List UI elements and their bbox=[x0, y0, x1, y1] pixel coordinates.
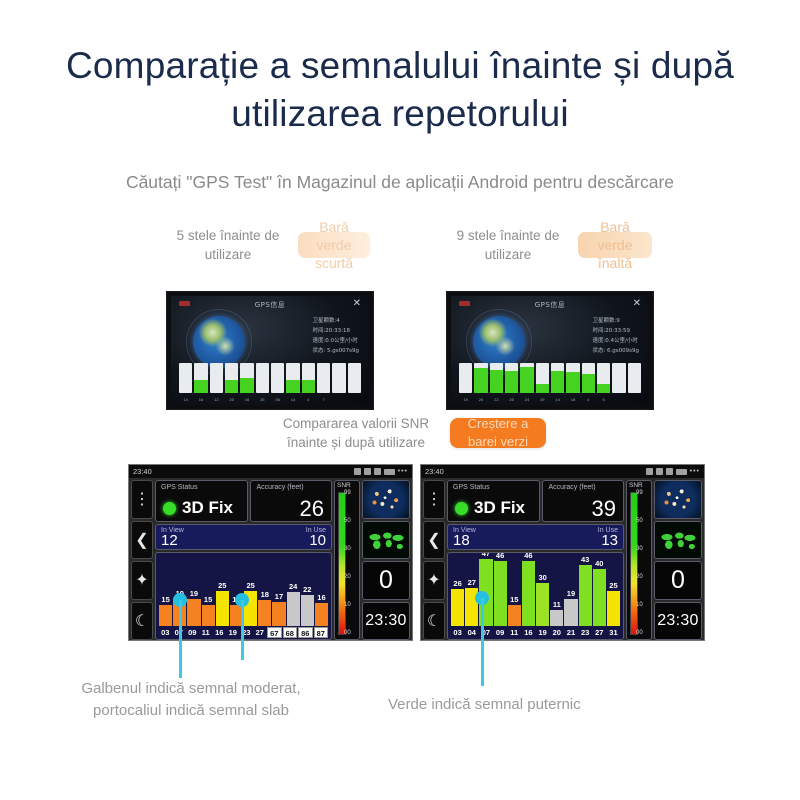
head-unit-bar bbox=[317, 363, 330, 393]
badge-right-text: Bară verde înaltă bbox=[597, 218, 632, 272]
head-unit-bar bbox=[332, 363, 345, 393]
head-unit-bar bbox=[348, 363, 361, 393]
top-tiles-left: GPS Status 3D Fix Accuracy (feet) 26 bbox=[155, 480, 332, 522]
snr-bar-value: 18 bbox=[258, 591, 271, 599]
caption-left-text: 5 stele înainte de utilizare bbox=[168, 226, 288, 264]
overflow-dots-icon: ••• bbox=[690, 468, 700, 475]
main-column-right: GPS Status 3D Fix Accuracy (feet) 39 In … bbox=[447, 480, 624, 640]
snr-bar-fill bbox=[315, 603, 328, 626]
night-mode-icon[interactable]: ☾ bbox=[131, 602, 153, 641]
satellite-id: 09 bbox=[494, 627, 507, 638]
snr-bar-fill bbox=[550, 610, 563, 626]
alarm-icon bbox=[374, 468, 381, 475]
sky-view-tile[interactable] bbox=[362, 480, 410, 519]
status-bar-time: 23:40 bbox=[133, 467, 152, 476]
satellite-id: 31 bbox=[607, 627, 620, 638]
snr-bar-value: 19 bbox=[564, 590, 577, 598]
accuracy-value: 26 bbox=[300, 497, 324, 521]
head-unit-bar bbox=[179, 363, 192, 393]
snr-bar-fill bbox=[202, 605, 215, 626]
status-indicator-dot bbox=[455, 502, 468, 515]
satellite-id: 20 bbox=[550, 627, 563, 638]
info-line: 时间:20:33:59 bbox=[592, 326, 639, 336]
share-icon[interactable]: ❮ bbox=[131, 521, 153, 560]
satellite-id: 27 bbox=[593, 627, 606, 638]
head-unit-bar-id: 14 bbox=[551, 397, 564, 402]
snr-bar-fill bbox=[272, 602, 285, 626]
head-unit-bar bbox=[520, 363, 533, 393]
head-unit-bar-id bbox=[348, 397, 361, 402]
snr-bar: 19 bbox=[564, 555, 577, 626]
head-unit-bar bbox=[240, 363, 253, 393]
snr-tick: 00 bbox=[636, 630, 650, 636]
battery-icon bbox=[676, 469, 687, 475]
right-tiles-left: 0 23:30 bbox=[362, 480, 410, 640]
head-unit-bar bbox=[582, 363, 595, 393]
head-unit-bar-id bbox=[612, 397, 625, 402]
snr-bar-fill bbox=[301, 595, 314, 626]
head-unit-screen-left: GPS信息 ✕ 卫星颗数:4 时间:20:33:18 速度:0.0公里/小时 状… bbox=[171, 296, 369, 405]
satellite-id: 23 bbox=[579, 627, 592, 638]
head-unit-photo-right: GPS信息 ✕ 卫星颗数:9 时间:20:33:59 速度:0.4公里/小时 状… bbox=[446, 291, 654, 410]
head-unit-bar bbox=[474, 363, 487, 393]
gps-status-tile[interactable]: GPS Status 3D Fix bbox=[155, 480, 248, 522]
satellite-id: 68 bbox=[283, 627, 298, 638]
head-unit-bar-id: 25 bbox=[256, 397, 269, 402]
snr-bar-value: 46 bbox=[494, 552, 507, 560]
badge-right: Bară verde înaltă bbox=[578, 232, 652, 258]
pointer-line bbox=[481, 598, 484, 686]
snr-bar: 25 bbox=[216, 555, 229, 626]
snr-tick: 50 bbox=[344, 518, 358, 524]
gps-status-tile[interactable]: GPS Status 3D Fix bbox=[447, 480, 540, 522]
accuracy-tile[interactable]: Accuracy (feet) 26 bbox=[250, 480, 332, 522]
speed-tile[interactable]: 0 bbox=[654, 561, 702, 600]
middle-caption: Compararea valorii SNR înainte și după u… bbox=[272, 414, 572, 452]
head-unit-bar bbox=[271, 363, 284, 393]
accuracy-value: 39 bbox=[592, 497, 616, 521]
head-unit-bar-fill bbox=[505, 371, 518, 393]
status-indicator-dot bbox=[163, 502, 176, 515]
in-view-value: 12 bbox=[161, 533, 178, 549]
badge-left: Bară verde scurtă bbox=[298, 232, 370, 258]
snr-tick: 30 bbox=[344, 546, 358, 552]
satellite-id: 04 bbox=[465, 627, 478, 638]
snr-tick: 50 bbox=[636, 518, 650, 524]
overflow-dots-icon: ••• bbox=[398, 468, 408, 475]
snr-bar: 15 bbox=[159, 555, 172, 626]
snr-bar-value: 22 bbox=[301, 586, 314, 594]
badge-middle-text: Creștere a barei verzi bbox=[468, 415, 529, 451]
head-unit-photo-left: GPS信息 ✕ 卫星颗数:4 时间:20:33:18 速度:0.0公里/小时 状… bbox=[166, 291, 374, 410]
head-unit-bar-id: 16 bbox=[240, 397, 253, 402]
menu-dots-icon[interactable]: ⋮ bbox=[131, 480, 153, 519]
satellite-id: 87 bbox=[314, 627, 329, 638]
head-unit-bar-fill bbox=[302, 380, 315, 394]
screen-title-right: GPS信息 bbox=[451, 300, 649, 310]
snr-bar: 11 bbox=[550, 555, 563, 626]
close-icon[interactable]: ✕ bbox=[353, 299, 361, 309]
snr-bar: 24 bbox=[287, 555, 300, 626]
snr-bar-value: 40 bbox=[593, 560, 606, 568]
head-unit-bar bbox=[210, 363, 223, 393]
snr-bar-fill bbox=[564, 599, 577, 626]
head-unit-bar-fill bbox=[582, 374, 595, 393]
note-right: Verde indică semnal puternic bbox=[388, 694, 688, 716]
accuracy-tile[interactable]: Accuracy (feet) 39 bbox=[542, 480, 624, 522]
head-unit-bar bbox=[256, 363, 269, 393]
head-unit-bar-id bbox=[332, 397, 345, 402]
status-bar-right: 23:40 ••• bbox=[421, 465, 704, 478]
gps-test-screenshot-right: 23:40 ••• ⋮ ❮ ✦ ☾ GPS Status bbox=[420, 464, 705, 641]
info-line: 速度:0.0公里/小时 bbox=[312, 336, 359, 346]
in-view-in-use-tile[interactable]: In View 12 In Use 10 bbox=[155, 524, 332, 550]
snr-bar: 46 bbox=[522, 555, 535, 626]
satellite-snr-chart-right: 262747461546301119434025 030407091116192… bbox=[447, 552, 624, 640]
speed-value: 0 bbox=[379, 566, 393, 595]
info-block-left: 卫星颗数:4 时间:20:33:18 速度:0.0公里/小时 状态: 5.gs0… bbox=[312, 316, 359, 356]
note-left: Galbenul indică semnal moderat, portocal… bbox=[36, 678, 346, 722]
head-unit-bar-id: 24 bbox=[520, 397, 533, 402]
speed-value: 0 bbox=[671, 566, 685, 595]
head-unit-bar-id: 16 bbox=[194, 397, 207, 402]
share-icon[interactable]: ❮ bbox=[423, 521, 445, 560]
satellite-id: 19 bbox=[227, 627, 240, 638]
clock-value: 23:30 bbox=[657, 612, 699, 630]
brightness-icon[interactable]: ✦ bbox=[423, 561, 445, 600]
snr-bar-value: 25 bbox=[216, 582, 229, 590]
snr-tick-labels-left: 995030201000 bbox=[344, 490, 358, 636]
snr-bars-right: 262747461546301119434025 bbox=[451, 555, 620, 626]
snr-bar: 25 bbox=[244, 555, 257, 626]
photo-bars-right bbox=[459, 363, 641, 393]
head-unit-bar-id: 14 bbox=[179, 397, 192, 402]
snr-bar-value: 15 bbox=[508, 596, 521, 604]
photo-bars-left bbox=[179, 363, 361, 393]
head-unit-bar-id: 19 bbox=[459, 397, 472, 402]
badge-middle: Creștere a barei verzi bbox=[450, 418, 546, 448]
photo-axis-left: 141612251625061447 bbox=[179, 397, 361, 402]
snr-tick: 99 bbox=[636, 490, 650, 496]
snr-bar: 15 bbox=[202, 555, 215, 626]
gps-status-label: GPS Status bbox=[453, 484, 490, 491]
snr-bar: 25 bbox=[607, 555, 620, 626]
snr-bar-value: 25 bbox=[607, 582, 620, 590]
gps-status-value-row: 3D Fix bbox=[455, 498, 525, 518]
snr-bar: 27 bbox=[465, 555, 478, 626]
battery-icon bbox=[384, 469, 395, 475]
snr-ids-right: 030407091116192021232731 bbox=[451, 627, 620, 638]
location-icon bbox=[364, 468, 371, 475]
snr-tick-labels-right: 995030201000 bbox=[636, 490, 650, 636]
snr-bar-value: 43 bbox=[579, 556, 592, 564]
night-mode-icon[interactable]: ☾ bbox=[423, 602, 445, 641]
clock-tile[interactable]: 23:30 bbox=[362, 602, 410, 641]
snr-bar: 17 bbox=[272, 555, 285, 626]
snr-bar-value: 30 bbox=[536, 574, 549, 582]
infographic-page: Comparație a semnalului înainte și după … bbox=[0, 0, 800, 800]
head-unit-bar-id bbox=[628, 397, 641, 402]
info-block-right: 卫星颗数:9 时间:20:33:59 速度:0.4公里/小时 状态: 6.gs0… bbox=[592, 316, 639, 356]
world-map-tile[interactable] bbox=[362, 521, 410, 560]
snr-tick: 20 bbox=[344, 574, 358, 580]
badge-left-text: Bară verde scurtă bbox=[315, 218, 353, 272]
head-unit-bar bbox=[194, 363, 207, 393]
info-line: 卫星颗数:9 bbox=[592, 316, 639, 326]
snr-bar-fill bbox=[187, 599, 200, 626]
snr-bar-value: 46 bbox=[522, 552, 535, 560]
snr-bar: 30 bbox=[536, 555, 549, 626]
snr-gauge-right: SNR 995030201000 bbox=[626, 480, 652, 640]
head-unit-bar-fill bbox=[566, 372, 579, 393]
app-body-right: ⋮ ❮ ✦ ☾ GPS Status 3D Fix Accuracy (feet… bbox=[421, 478, 704, 641]
head-unit-bar-id: 18 bbox=[566, 397, 579, 402]
head-unit-bar-id: 14 bbox=[286, 397, 299, 402]
satellite-id: 11 bbox=[200, 627, 213, 638]
world-map-icon bbox=[655, 522, 701, 559]
snr-bar-value: 15 bbox=[202, 596, 215, 604]
satellite-id: 16 bbox=[213, 627, 226, 638]
snr-gauge-left: SNR 995030201000 bbox=[334, 480, 360, 640]
snr-bar: 40 bbox=[593, 555, 606, 626]
gps-status-value: 3D Fix bbox=[474, 498, 525, 518]
top-tiles-right: GPS Status 3D Fix Accuracy (feet) 39 bbox=[447, 480, 624, 522]
snr-bar-fill bbox=[579, 565, 592, 626]
bluetooth-icon bbox=[354, 468, 361, 475]
sky-view-icon bbox=[363, 481, 409, 518]
speed-tile[interactable]: 0 bbox=[362, 561, 410, 600]
info-line: 卫星颗数:4 bbox=[312, 316, 359, 326]
world-map-icon bbox=[363, 522, 409, 559]
head-unit-bar-fill bbox=[225, 380, 238, 394]
snr-bar: 16 bbox=[315, 555, 328, 626]
gps-status-value: 3D Fix bbox=[182, 498, 233, 518]
gps-status-value-row: 3D Fix bbox=[163, 498, 233, 518]
head-unit-bar-id: 06 bbox=[271, 397, 284, 402]
status-bar-icons: ••• bbox=[646, 468, 700, 475]
head-unit-bar-id: 25 bbox=[505, 397, 518, 402]
head-unit-bar bbox=[459, 363, 472, 393]
bluetooth-icon bbox=[646, 468, 653, 475]
snr-label: SNR bbox=[337, 482, 351, 489]
pointer-line bbox=[179, 600, 182, 678]
snr-bar-value: 11 bbox=[550, 601, 563, 609]
world-map-tile[interactable] bbox=[654, 521, 702, 560]
snr-tick: 10 bbox=[344, 602, 358, 608]
info-line: 速度:0.4公里/小时 bbox=[592, 336, 639, 346]
head-unit-bar-fill bbox=[597, 384, 610, 393]
alarm-icon bbox=[666, 468, 673, 475]
snr-ids-left: 030709111619232767688687 bbox=[159, 627, 328, 638]
head-unit-bar bbox=[286, 363, 299, 393]
top-caption-right: 9 stele înainte de utilizare Bară verde … bbox=[448, 226, 653, 264]
main-column-left: GPS Status 3D Fix Accuracy (feet) 26 In … bbox=[155, 480, 332, 640]
photo-axis-right: 192022252429141845 bbox=[459, 397, 641, 402]
head-unit-bar bbox=[225, 363, 238, 393]
info-line: 时间:20:33:18 bbox=[312, 326, 359, 336]
snr-bar-fill bbox=[451, 589, 464, 626]
accuracy-label: Accuracy (feet) bbox=[256, 484, 303, 491]
snr-bar-value: 27 bbox=[465, 579, 478, 587]
page-title: Comparație a semnalului înainte și după … bbox=[0, 42, 800, 138]
satellite-id: 21 bbox=[564, 627, 577, 638]
head-unit-bar-id: 22 bbox=[490, 397, 503, 402]
snr-bar-fill bbox=[522, 561, 535, 626]
brightness-icon[interactable]: ✦ bbox=[131, 561, 153, 600]
snr-tick: 20 bbox=[636, 574, 650, 580]
in-use-value: 13 bbox=[601, 533, 618, 549]
satellite-id: 67 bbox=[267, 627, 282, 638]
globe-graphic-left bbox=[193, 316, 245, 368]
head-unit-bar bbox=[505, 363, 518, 393]
head-unit-bar-fill bbox=[490, 370, 503, 393]
head-unit-bar bbox=[302, 363, 315, 393]
pointer-line bbox=[241, 600, 244, 660]
snr-bar-fill bbox=[593, 569, 606, 626]
satellite-id: 16 bbox=[522, 627, 535, 638]
snr-bar-value: 26 bbox=[451, 580, 464, 588]
snr-bar-value: 17 bbox=[272, 593, 285, 601]
location-icon bbox=[656, 468, 663, 475]
head-unit-bar bbox=[536, 363, 549, 393]
head-unit-bar-id: 20 bbox=[474, 397, 487, 402]
snr-bar-fill bbox=[607, 591, 620, 627]
snr-bar-value: 25 bbox=[244, 582, 257, 590]
snr-bar-value: 16 bbox=[315, 594, 328, 602]
snr-bar-value: 15 bbox=[159, 596, 172, 604]
head-unit-bar-id: 4 bbox=[302, 397, 315, 402]
snr-bars-left: 151919152515251817242216 bbox=[159, 555, 328, 626]
satellite-id: 86 bbox=[298, 627, 313, 638]
head-unit-bar bbox=[566, 363, 579, 393]
snr-bar: 43 bbox=[579, 555, 592, 626]
menu-dots-icon[interactable]: ⋮ bbox=[423, 480, 445, 519]
head-unit-bar-fill bbox=[536, 384, 549, 393]
snr-bar: 19 bbox=[187, 555, 200, 626]
head-unit-bar bbox=[612, 363, 625, 393]
snr-bar-fill bbox=[508, 605, 521, 626]
app-body-left: ⋮ ❮ ✦ ☾ GPS Status 3D Fix Accuracy (feet… bbox=[129, 478, 412, 641]
snr-bar-fill bbox=[258, 600, 271, 626]
satellite-id: 11 bbox=[508, 627, 521, 638]
close-icon[interactable]: ✕ bbox=[633, 299, 641, 309]
head-unit-bar bbox=[551, 363, 564, 393]
info-line: 状态: 5.gs007s9g bbox=[312, 346, 359, 356]
middle-caption-text: Compararea valorii SNR înainte și după u… bbox=[272, 414, 440, 452]
snr-bar-fill bbox=[536, 583, 549, 626]
snr-bar-fill bbox=[159, 605, 172, 626]
status-bar-icons: ••• bbox=[354, 468, 408, 475]
status-bar-time: 23:40 bbox=[425, 467, 444, 476]
snr-bar: 15 bbox=[508, 555, 521, 626]
snr-bar: 18 bbox=[258, 555, 271, 626]
page-subtitle: Căutați "GPS Test" în Magazinul de aplic… bbox=[0, 172, 800, 193]
satellite-id: 03 bbox=[451, 627, 464, 638]
gps-test-screenshot-left: 23:40 ••• ⋮ ❮ ✦ ☾ GPS Status bbox=[128, 464, 413, 641]
gps-status-label: GPS Status bbox=[161, 484, 198, 491]
head-unit-bar-fill bbox=[194, 380, 207, 394]
satellite-id: 27 bbox=[254, 627, 267, 638]
snr-bar-value: 24 bbox=[287, 583, 300, 591]
head-unit-bar bbox=[628, 363, 641, 393]
snr-bar: 22 bbox=[301, 555, 314, 626]
snr-bar-fill bbox=[494, 561, 507, 626]
in-view-value: 18 bbox=[453, 533, 470, 549]
clock-value: 23:30 bbox=[365, 612, 407, 630]
head-unit-bar-fill bbox=[474, 368, 487, 393]
globe-graphic-right bbox=[473, 316, 525, 368]
head-unit-bar bbox=[597, 363, 610, 393]
head-unit-bar-id: 4 bbox=[582, 397, 595, 402]
head-unit-bar-fill bbox=[551, 371, 564, 393]
sky-view-tile[interactable] bbox=[654, 480, 702, 519]
left-rail-left: ⋮ ❮ ✦ ☾ bbox=[131, 480, 153, 640]
snr-label: SNR bbox=[629, 482, 643, 489]
head-unit-bar bbox=[490, 363, 503, 393]
snr-bar: 26 bbox=[451, 555, 464, 626]
snr-bar: 46 bbox=[494, 555, 507, 626]
screen-title-left: GPS信息 bbox=[171, 300, 369, 310]
status-bar-left: 23:40 ••• bbox=[129, 465, 412, 478]
head-unit-bar-id: 25 bbox=[225, 397, 238, 402]
right-tiles-right: 0 23:30 bbox=[654, 480, 702, 640]
in-use-value: 10 bbox=[309, 533, 326, 549]
caption-right-text: 9 stele înainte de utilizare bbox=[448, 226, 568, 264]
head-unit-bar-id: 12 bbox=[210, 397, 223, 402]
left-rail-right: ⋮ ❮ ✦ ☾ bbox=[423, 480, 445, 640]
snr-tick: 00 bbox=[344, 630, 358, 636]
satellite-id: 09 bbox=[186, 627, 199, 638]
satellite-id: 19 bbox=[536, 627, 549, 638]
snr-tick: 30 bbox=[636, 546, 650, 552]
info-line: 状态: 6.gs009s9g bbox=[592, 346, 639, 356]
head-unit-bar-fill bbox=[286, 380, 299, 394]
clock-tile[interactable]: 23:30 bbox=[654, 602, 702, 641]
in-view-in-use-tile[interactable]: In View 18 In Use 13 bbox=[447, 524, 624, 550]
snr-tick: 99 bbox=[344, 490, 358, 496]
head-unit-bar-fill bbox=[240, 378, 253, 393]
snr-bar-value: 19 bbox=[187, 590, 200, 598]
snr-bar-fill bbox=[216, 591, 229, 627]
head-unit-bar-fill bbox=[520, 367, 533, 393]
sky-view-icon bbox=[655, 481, 701, 518]
head-unit-screen-right: GPS信息 ✕ 卫星颗数:9 时间:20:33:59 速度:0.4公里/小时 状… bbox=[451, 296, 649, 405]
snr-tick: 10 bbox=[636, 602, 650, 608]
head-unit-bar-id: 7 bbox=[317, 397, 330, 402]
snr-bar-value: 47 bbox=[479, 552, 492, 558]
satellite-id: 03 bbox=[159, 627, 172, 638]
head-unit-bar-id: 29 bbox=[536, 397, 549, 402]
top-caption-left: 5 stele înainte de utilizare Bară verde … bbox=[168, 226, 373, 264]
snr-bar-fill bbox=[287, 592, 300, 626]
accuracy-label: Accuracy (feet) bbox=[548, 484, 595, 491]
head-unit-bar-id: 5 bbox=[597, 397, 610, 402]
